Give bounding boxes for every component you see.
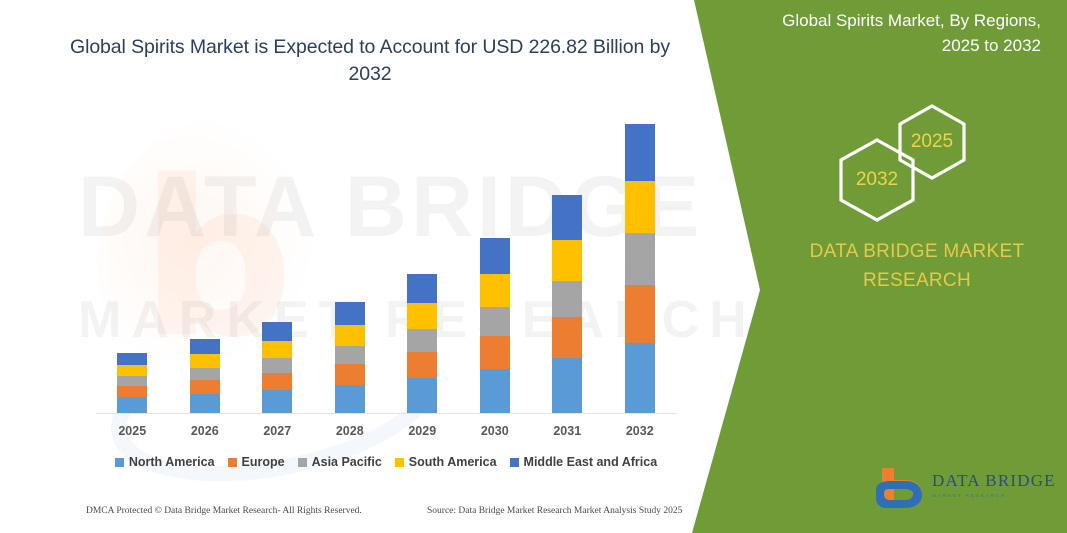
bar-group-2026: [190, 339, 220, 413]
bar-segment: [262, 341, 292, 358]
x-axis-label-2031: 2031: [537, 424, 597, 438]
bar-segment: [552, 358, 582, 413]
hexagon-start-year-label: 2025: [893, 103, 971, 181]
logo-text: DATA BRIDGE: [932, 471, 1056, 491]
bar-group-2025: [117, 353, 147, 413]
legend-label: Middle East and Africa: [524, 455, 658, 469]
x-axis-label-2032: 2032: [610, 424, 670, 438]
bar-segment: [117, 353, 147, 365]
chart-panel: b DATA BRIDGE MARKET RESEARCH Global Spi…: [0, 0, 760, 533]
bar-group-2032: [625, 124, 655, 413]
bar-group-2027: [262, 322, 292, 413]
bar-group-2029: [407, 274, 437, 413]
x-axis-label-2027: 2027: [247, 424, 307, 438]
brand-name: DATA BRIDGE MARKET RESEARCH: [772, 237, 1062, 295]
bar-segment: [190, 354, 220, 368]
footer: DMCA Protected © Data Bridge Market Rese…: [0, 506, 700, 526]
bar-segment: [625, 233, 655, 285]
legend-label: Asia Pacific: [312, 455, 382, 469]
logo-text-wrap: DATA BRIDGE MARKET RESEARCH: [932, 471, 1056, 498]
legend-label: South America: [409, 455, 497, 469]
bar-segment: [480, 238, 510, 274]
bar-segment: [117, 397, 147, 413]
x-axis-label-2029: 2029: [392, 424, 452, 438]
legend-item[interactable]: North America: [115, 455, 215, 469]
data-bridge-logo-mark: [872, 464, 928, 512]
bar-segment: [552, 281, 582, 317]
bar-segment: [190, 339, 220, 354]
footer-source-text: Source: Data Bridge Market Research Mark…: [427, 506, 682, 516]
bar-segment: [335, 364, 365, 385]
bar-group-2031: [552, 195, 582, 413]
bar-segment: [480, 369, 510, 413]
legend-swatch-icon: [115, 458, 124, 467]
hexagon-badge-start-year: 2025: [893, 103, 971, 181]
bar-segment: [117, 365, 147, 376]
bar-segment: [407, 274, 437, 303]
legend-swatch-icon: [298, 458, 307, 467]
bar-segment: [262, 322, 292, 341]
company-logo[interactable]: DATA BRIDGE MARKET RESEARCH: [872, 464, 1047, 512]
bar-segment: [117, 386, 147, 397]
bar-segment: [190, 380, 220, 394]
x-axis-labels: 20252026202720282029203020312032: [96, 424, 676, 444]
bar-segment: [262, 358, 292, 373]
legend-swatch-icon: [395, 458, 404, 467]
bar-group-2030: [480, 238, 510, 413]
legend-swatch-icon: [510, 458, 519, 467]
bar-segment: [625, 124, 655, 181]
legend-label: North America: [129, 455, 215, 469]
bar-segment: [407, 352, 437, 378]
chart-legend: North AmericaEuropeAsia PacificSouth Ame…: [96, 455, 676, 469]
x-axis-label-2030: 2030: [465, 424, 525, 438]
bar-segment: [262, 373, 292, 390]
x-axis-label-2025: 2025: [102, 424, 162, 438]
legend-label: Europe: [242, 455, 285, 469]
bar-segment: [335, 346, 365, 364]
legend-item[interactable]: Europe: [228, 455, 285, 469]
bar-segment: [335, 325, 365, 346]
bar-segment: [335, 302, 365, 325]
bar-segment: [552, 195, 582, 240]
legend-item[interactable]: South America: [395, 455, 497, 469]
stacked-bar-chart: [96, 120, 676, 414]
bar-segment: [552, 317, 582, 358]
legend-item[interactable]: Asia Pacific: [298, 455, 382, 469]
bar-segment: [407, 378, 437, 413]
bar-segment: [552, 240, 582, 281]
bar-group-2028: [335, 302, 365, 413]
bar-segment: [262, 390, 292, 413]
bar-segment: [480, 307, 510, 336]
bar-segment: [625, 285, 655, 343]
bar-segment: [480, 274, 510, 307]
legend-swatch-icon: [228, 458, 237, 467]
chart-title: Global Spirits Market is Expected to Acc…: [60, 34, 680, 88]
x-axis-label-2026: 2026: [175, 424, 235, 438]
legend-item[interactable]: Middle East and Africa: [510, 455, 658, 469]
bar-segment: [117, 376, 147, 386]
bar-segment: [625, 181, 655, 233]
panel-title: Global Spirits Market, By Regions, 2025 …: [753, 8, 1041, 58]
bar-segment: [625, 343, 655, 413]
footer-dmca-text: DMCA Protected © Data Bridge Market Rese…: [86, 506, 362, 516]
x-axis-line: [96, 413, 676, 414]
bar-segment: [335, 385, 365, 413]
bar-segment: [190, 368, 220, 380]
bar-segment: [480, 336, 510, 369]
bar-segment: [190, 394, 220, 413]
infographic-root: b DATA BRIDGE MARKET RESEARCH Global Spi…: [0, 0, 1067, 533]
x-axis-label-2028: 2028: [320, 424, 380, 438]
logo-subtitle: MARKET RESEARCH: [932, 493, 1056, 498]
bar-segment: [407, 303, 437, 329]
bar-segment: [407, 329, 437, 352]
